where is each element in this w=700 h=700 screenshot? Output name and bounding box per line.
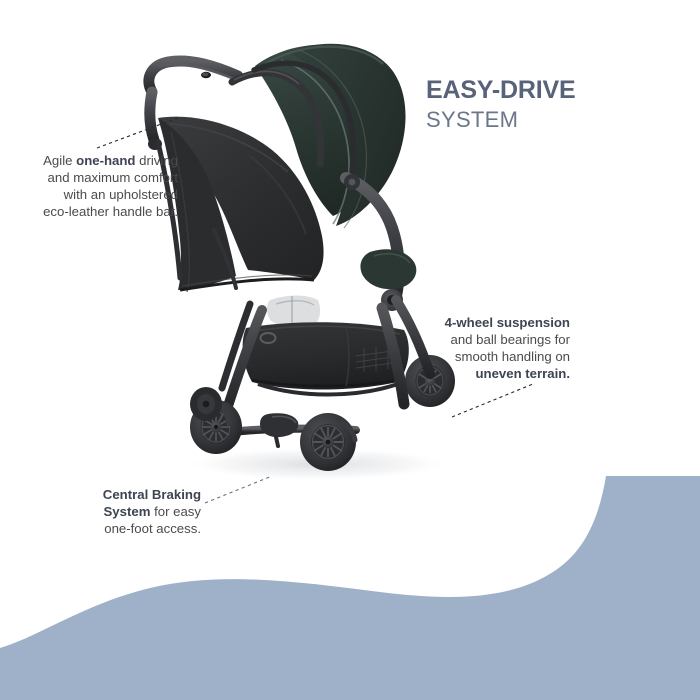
callout-text: eco-leather handle bar.: [43, 204, 178, 219]
callout-line: System for easy: [70, 503, 201, 520]
callout-emphasis: 4-wheel suspension: [445, 315, 570, 330]
page-title-line2: SYSTEM: [426, 109, 575, 131]
infographic-canvas: EASY-DRIVE SYSTEM Agile one-hand driving…: [0, 0, 700, 700]
callout-emphasis: uneven terrain.: [475, 366, 570, 381]
callout-emphasis: System: [104, 504, 151, 519]
callout-line: eco-leather handle bar.: [28, 203, 178, 220]
callout-emphasis: one-hand: [76, 153, 135, 168]
callout-handle-bar: Agile one-hand drivingand maximum comfor…: [28, 152, 178, 220]
wheel-rear-near: [300, 413, 356, 471]
callout-text: smooth handling on: [455, 349, 570, 364]
callout-line: one-foot access.: [70, 520, 201, 537]
callout-line: Central Braking: [70, 486, 201, 503]
page-title-line1: EASY-DRIVE: [426, 78, 575, 103]
callout-line: 4-wheel suspension: [430, 314, 570, 331]
callout-text: driving: [135, 153, 178, 168]
callout-text: one-foot access.: [104, 521, 201, 536]
callout-line: with an upholstered: [28, 186, 178, 203]
callout-line: Agile one-hand driving: [28, 152, 178, 169]
callout-text: for easy: [150, 504, 201, 519]
page-title: EASY-DRIVE SYSTEM: [426, 78, 575, 131]
callout-line: smooth handling on: [430, 348, 570, 365]
callout-braking-system: Central BrakingSystem for easyone-foot a…: [70, 486, 201, 537]
callout-line: and ball bearings for: [430, 331, 570, 348]
callout-line: uneven terrain.: [430, 365, 570, 382]
stroller-product-image: [0, 0, 700, 700]
callout-text: and ball bearings for: [451, 332, 571, 347]
callout-text: and maximum comfort: [48, 170, 178, 185]
callout-emphasis: Central Braking: [103, 487, 201, 502]
callout-text: with an upholstered: [64, 187, 178, 202]
callout-line: and maximum comfort: [28, 169, 178, 186]
callout-text: Agile: [43, 153, 76, 168]
wheel-front-far: [190, 387, 222, 421]
callout-suspension: 4-wheel suspensionand ball bearings fors…: [430, 314, 570, 382]
